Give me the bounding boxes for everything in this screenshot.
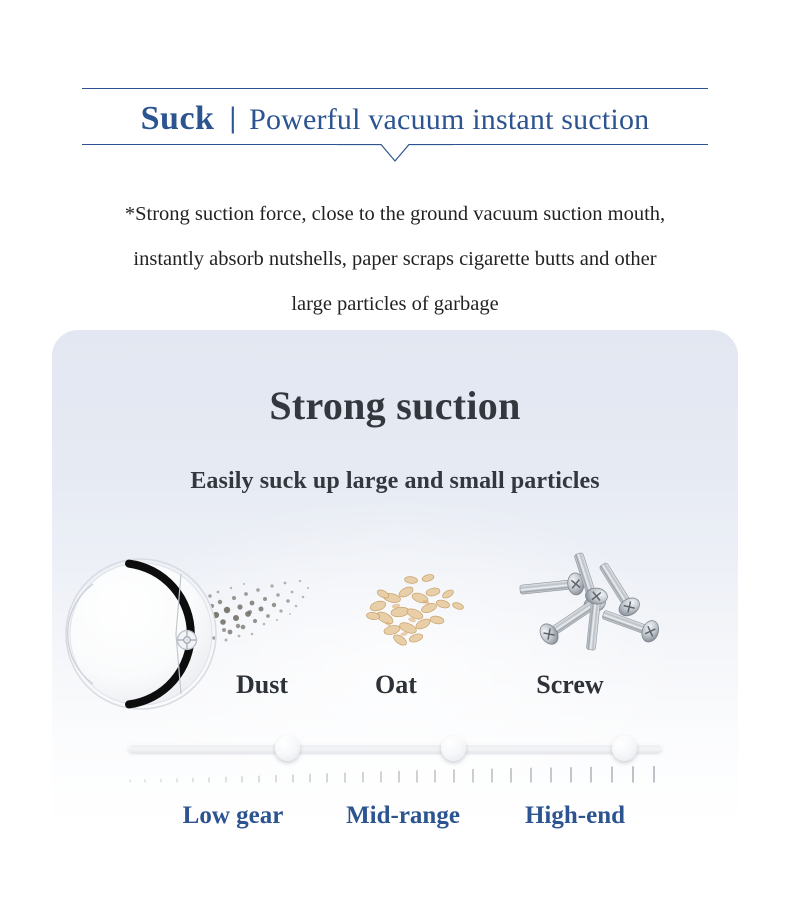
header-rule-right-segment [453, 144, 708, 145]
section-description: *Strong suction force, close to the grou… [0, 192, 790, 327]
particle-label-oat: Oat [326, 670, 466, 700]
title-subtitle: Powerful vacuum instant suction [249, 103, 649, 136]
suction-power-slider[interactable] [128, 736, 662, 794]
description-line-1: *Strong suction force, close to the grou… [0, 192, 790, 237]
title-keyword: Suck [141, 100, 215, 137]
slider-knob-low[interactable] [275, 736, 300, 761]
section-header: Suck|Powerful vacuum instant suction [0, 88, 790, 166]
particle-label-dust: Dust [192, 670, 332, 700]
header-rule-left-segment [82, 144, 337, 145]
gear-label-high: High-end [480, 802, 670, 830]
description-line-2: instantly absorb nutshells, paper scraps… [0, 237, 790, 282]
particle-label-screw: Screw [500, 670, 640, 700]
chevron-down-icon [337, 144, 453, 164]
slider-knob-mid[interactable] [441, 736, 466, 761]
description-line-3: large particles of garbage [0, 282, 790, 327]
oat-flakes-icon [340, 548, 490, 668]
suction-demo-card: Strong suction Easily suck up large and … [52, 330, 738, 870]
header-bottom-rule [82, 144, 708, 166]
gear-label-low: Low gear [138, 802, 328, 830]
slider-knob-high[interactable] [612, 736, 637, 761]
page-title: Suck|Powerful vacuum instant suction [0, 89, 790, 144]
card-subtitle: Easily suck up large and small particles [52, 468, 738, 495]
slider-tick-marks [122, 766, 674, 790]
gear-label-mid: Mid-range [308, 802, 498, 830]
metal-screws-icon [502, 538, 672, 668]
slider-track[interactable] [128, 744, 662, 753]
title-divider-bar: | [214, 101, 249, 134]
card-title: Strong suction [52, 382, 738, 429]
